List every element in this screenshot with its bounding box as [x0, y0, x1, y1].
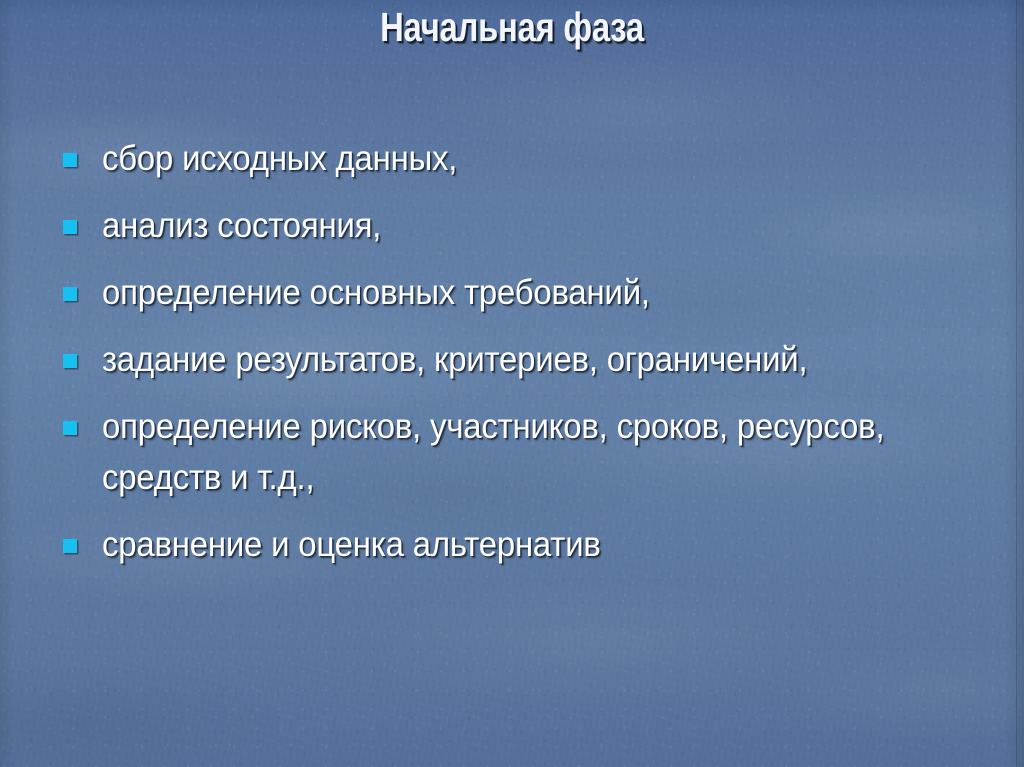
square-bullet-icon [63, 287, 77, 301]
square-bullet-icon [63, 354, 77, 368]
square-bullet-icon [63, 220, 77, 234]
list-item-label: сбор исходных данных, [102, 133, 905, 184]
square-bullet-icon [63, 153, 77, 167]
slide-title: Начальная фаза [102, 4, 921, 50]
slide-right-edge-line [1016, 0, 1017, 767]
square-bullet-icon [63, 539, 77, 553]
list-item-label: задание результатов, критериев, ограниче… [102, 334, 905, 385]
list-item: анализ состояния, [56, 200, 956, 251]
list-item: определение рисков, участников, сроков, … [56, 401, 956, 503]
list-item: задание результатов, критериев, ограниче… [56, 334, 956, 385]
list-item-label: анализ состояния, [102, 200, 905, 251]
list-item: сбор исходных данных, [56, 133, 956, 184]
presentation-slide: Начальная фаза сбор исходных данных, ана… [0, 0, 1024, 767]
list-item: определение основных требований, [56, 267, 956, 318]
list-item-label: сравнение и оценка альтернатив [102, 519, 905, 570]
bullet-list: сбор исходных данных, анализ состояния, … [56, 133, 956, 570]
list-item: сравнение и оценка альтернатив [56, 519, 956, 570]
square-bullet-icon [63, 421, 77, 435]
list-item-label: определение основных требований, [102, 267, 905, 318]
list-item-label: определение рисков, участников, сроков, … [102, 401, 905, 503]
